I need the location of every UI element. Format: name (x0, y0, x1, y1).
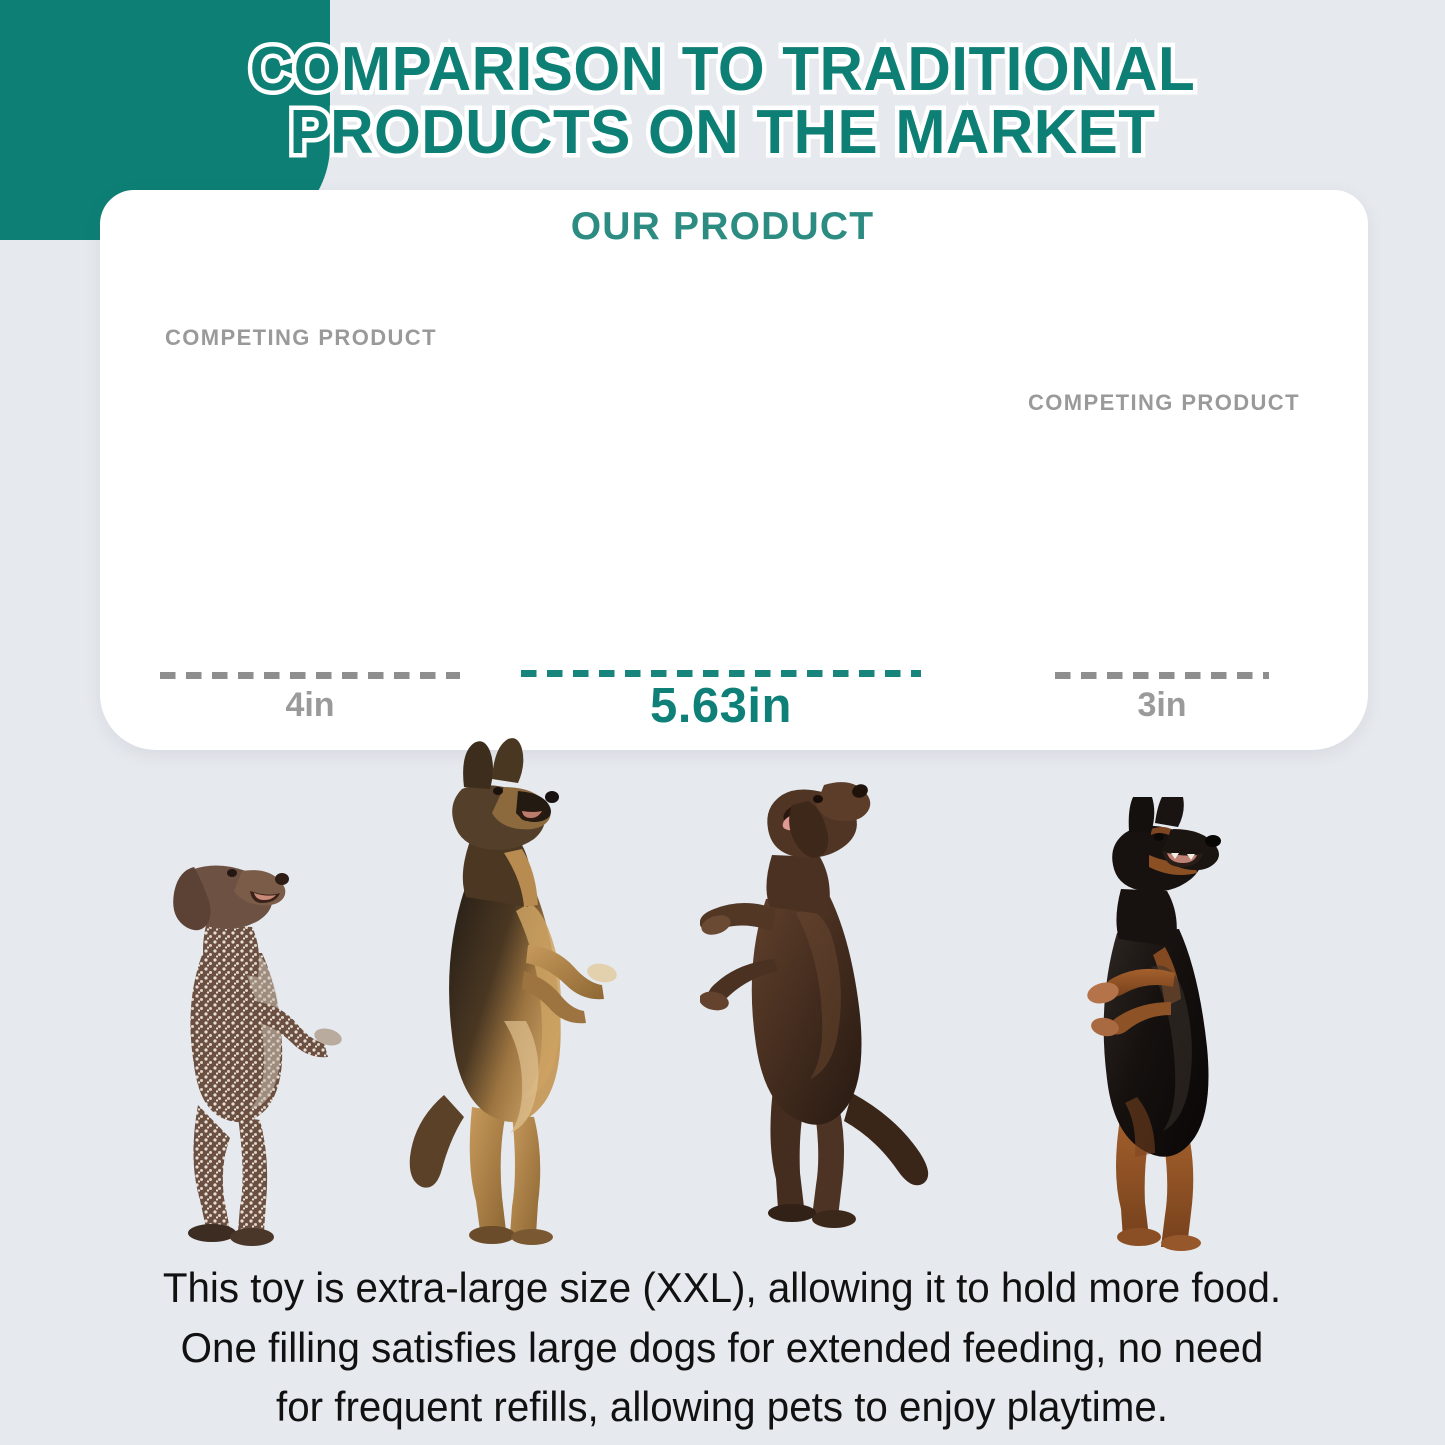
description-line-3: for frequent refills, allowing pets to e… (98, 1377, 1346, 1437)
dog-german-shepherd (400, 735, 650, 1245)
dogs-row (0, 735, 1445, 1255)
competing-product-label-left: COMPETING PRODUCT (165, 325, 437, 351)
size-label-left: 4in (160, 686, 460, 725)
size-label-center: 5.63in (521, 678, 921, 734)
description-paragraph: This toy is extra-large size (XXL), allo… (98, 1258, 1346, 1437)
our-product-heading: OUR PRODUCT (0, 205, 1445, 249)
competing-product-label-right: COMPETING PRODUCT (1028, 390, 1300, 416)
page-title: COMPARISON TO TRADITIONAL PRODUCTS ON TH… (22, 38, 1424, 164)
size-label-right: 3in (1055, 686, 1269, 725)
infographic-page: COMPARISON TO TRADITIONAL PRODUCTS ON TH… (0, 0, 1445, 1445)
description-line-1: This toy is extra-large size (XXL), allo… (98, 1258, 1346, 1318)
dog-chocolate-labrador (700, 763, 990, 1243)
page-title-line-1: COMPARISON TO TRADITIONAL (22, 38, 1424, 101)
comparison-card (100, 190, 1368, 750)
dog-german-shorthaired-pointer (150, 805, 380, 1255)
page-title-line-2: PRODUCTS ON THE MARKET (22, 101, 1424, 164)
dog-doberman-pinscher (1055, 797, 1285, 1257)
description-line-2: One filling satisfies large dogs for ext… (98, 1318, 1346, 1378)
